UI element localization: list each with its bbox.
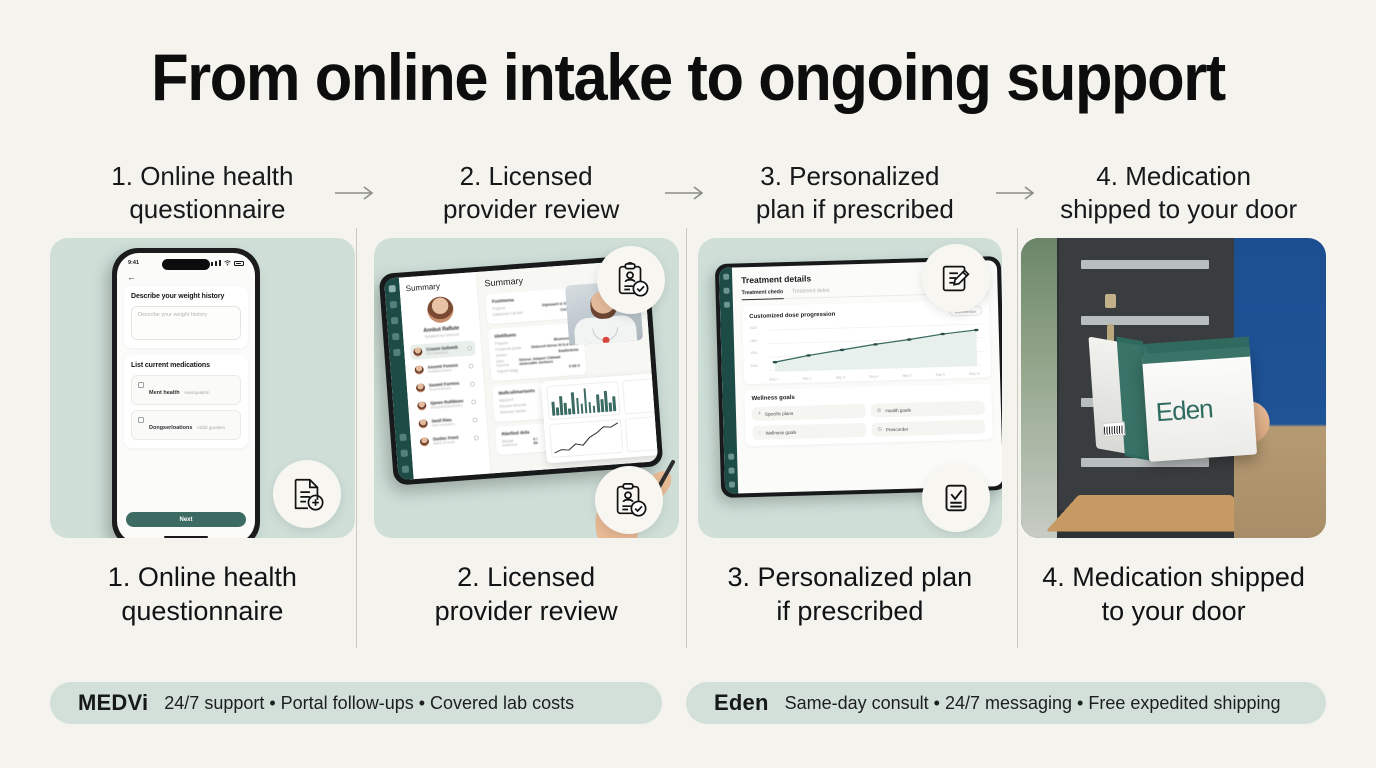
panel-value: il / Illi	[533, 437, 542, 446]
step-caption-line2: provider review	[380, 594, 673, 628]
bar	[556, 408, 559, 416]
avatar	[419, 437, 429, 447]
panel-key: Rirtuoes oistian	[500, 409, 526, 415]
wellness-goals-panel: Wellness goals + Specific plans ◎	[744, 383, 992, 446]
step-caption-line2: to your door	[1027, 594, 1320, 628]
panel-key: Banqa irsilloons	[502, 438, 528, 448]
settings-icon[interactable]	[727, 468, 733, 474]
y-tick: 501k	[750, 364, 766, 368]
tab-treatment-checks[interactable]: Treatment chedo	[741, 289, 783, 300]
summary-panel: Maficalimartants Aqupont Eluosel Ilercol…	[492, 382, 547, 422]
list-item[interactable]: Sunloc FrentAleolr un loorp	[416, 430, 482, 450]
panel-value: Eadlinlimls	[558, 348, 578, 353]
step-heading-line1: 4. Medication	[1033, 160, 1314, 193]
brand-pill-medvi: MEDVi 24/7 support • Portal follow-ups •…	[50, 682, 662, 724]
avatar	[426, 296, 454, 324]
bar	[559, 396, 563, 415]
step-caption-line1: 3. Personalized plan	[704, 560, 997, 594]
step-column-2: 2. Licensed provider review	[374, 160, 679, 660]
calendar-icon[interactable]	[391, 317, 398, 324]
clipboard-person-check-icon-badge	[597, 246, 665, 314]
weight-history-title: Describe your weight history	[131, 293, 241, 300]
panel-value: il till il	[569, 364, 580, 369]
settings-icon[interactable]	[400, 450, 407, 457]
bar	[571, 392, 575, 414]
goal-chip[interactable]: + Specific plans	[751, 404, 865, 421]
avatar	[417, 401, 427, 411]
goal-label: Wellness goals	[765, 429, 796, 435]
dose-progression-chart: 202k 150k 100k 501k	[749, 320, 983, 378]
battery-icon	[234, 261, 244, 266]
line-chart	[549, 419, 623, 458]
y-axis-ticks: 202k 150k 100k 501k	[749, 326, 766, 368]
brand-name: Eden	[714, 690, 769, 716]
goal-label: Health goals	[885, 407, 911, 413]
checkbox-icon[interactable]	[138, 382, 144, 388]
medication-option-row[interactable]: Dongserloations Addd goutiers	[131, 410, 241, 440]
step-caption-1: 1. Online health questionnaire	[50, 560, 355, 628]
medication-label: Dongserloations	[149, 425, 192, 431]
wellness-goals-list: + Specific plans ◎ Health goals	[751, 401, 985, 440]
target-icon: ◌	[758, 430, 761, 436]
page-title: From online intake to ongoing support	[48, 44, 1328, 110]
list-item[interactable]: Crasve Gulsesbline bestetions	[410, 340, 476, 360]
step-heading-line2: shipped to your door	[1033, 193, 1314, 226]
step-heading-line2: plan if prescribed	[710, 193, 991, 226]
goal-chip[interactable]: ◷ Prescorder	[871, 420, 985, 437]
chart-icon[interactable]	[723, 302, 729, 308]
status-dot-icon	[469, 381, 474, 386]
panel-key: Squret lasgy	[497, 368, 518, 374]
step-heading-line1: 2. Licensed	[386, 160, 667, 193]
brand-pill-eden: Eden Same-day consult • 24/7 messaging •…	[686, 682, 1326, 724]
bar	[609, 403, 612, 412]
medications-card: List current medications Ment health Ase…	[124, 355, 248, 448]
step-caption-2: 2. Licensed provider review	[374, 560, 679, 628]
step-heading-line1: 3. Personalized	[710, 160, 991, 193]
panel-heading: Rlerllod dola	[501, 429, 541, 437]
logo-icon	[722, 274, 728, 280]
plus-icon: +	[757, 411, 760, 417]
x-tick: Step 1	[768, 377, 777, 381]
list-item[interactable]: Sjeren Ruthboessrecointellnacolontes	[414, 394, 480, 414]
medication-sublabel: Addd goutiers	[197, 425, 225, 430]
step-heading-2: 2. Licensed provider review	[374, 160, 679, 238]
document-add-icon	[288, 475, 326, 513]
bar	[576, 398, 580, 414]
x-tick: Step 6	[935, 373, 944, 377]
step-heading-line2: questionnaire	[62, 193, 343, 226]
goal-label: Specific plans	[764, 410, 792, 416]
bar	[593, 406, 596, 413]
phone-mockup: 9:41 ← Describe your weight history Desc…	[112, 248, 260, 538]
metric-tile	[622, 378, 658, 414]
patient-list-panel: Summary Annbut Raflute Sciatorit by retu…	[399, 272, 492, 479]
step-caption-4: 4. Medication shipped to your door	[1021, 560, 1326, 628]
shipping-box: Eden	[1089, 333, 1257, 466]
brand-pills: MEDVi 24/7 support • Portal follow-ups •…	[50, 682, 1326, 724]
list-item[interactable]: Senil Rieulelert osreulens	[415, 412, 481, 432]
grid-icon[interactable]	[389, 301, 396, 308]
y-tick: 150k	[749, 338, 765, 342]
chart-title: Customized dose progression	[749, 312, 835, 320]
bell-icon[interactable]	[399, 434, 406, 441]
bar	[551, 402, 554, 416]
x-tick: Step 3	[835, 375, 844, 379]
step-media-card-4: Eden	[1021, 238, 1326, 538]
phone-status-bar: 9:41	[124, 257, 248, 266]
bar	[612, 396, 616, 411]
step-column-1: 1. Online health questionnaire 9:41	[50, 160, 355, 660]
brand-features: 24/7 support • Portal follow-ups • Cover…	[164, 693, 574, 714]
list-item[interactable]: Sasent FurmouSconnertelans	[412, 376, 478, 396]
weight-history-input[interactable]: Describe your weight history	[131, 306, 241, 340]
avatar-icon[interactable]	[401, 465, 408, 472]
step-column-3: 3. Personalized plan if prescribed	[698, 160, 1003, 660]
panel-key: Dien touncal	[496, 359, 513, 368]
step-caption-line1: 4. Medication shipped	[1027, 560, 1320, 594]
panel-key: Fredecal Quote	[495, 346, 521, 352]
chart-icon[interactable]	[393, 349, 400, 356]
delivery-photo: Eden	[1021, 238, 1326, 538]
panel-key: Pogons	[495, 341, 508, 346]
step-caption-line2: questionnaire	[56, 594, 349, 628]
panel-key: Aqupont	[499, 398, 513, 403]
infographic-page: From online intake to ongoing support 1.…	[0, 0, 1376, 768]
step-media-card-2: Summary Annbut Raflute Sciatorit by retu…	[374, 238, 679, 538]
document-pencil-icon-badge	[922, 244, 990, 312]
bar	[588, 402, 591, 414]
bar	[596, 394, 600, 412]
sidelight-window	[1021, 238, 1057, 538]
x-tick: Step 5	[902, 374, 911, 378]
metric-tile	[625, 416, 658, 452]
clipboard-person-check-icon	[610, 481, 648, 519]
panel-heading: Maficalimartants	[498, 388, 538, 396]
list-item[interactable]: Anovnt FonsossonMluernlistos	[411, 358, 477, 378]
wifi-icon	[224, 260, 231, 266]
x-tick: Step 4	[868, 375, 877, 379]
home-indicator	[164, 536, 208, 539]
medication-label: Ment health	[149, 390, 180, 396]
step-caption-line1: 2. Licensed	[380, 560, 673, 594]
bar	[600, 399, 603, 412]
avatar-icon[interactable]	[728, 482, 734, 488]
step-caption-line2: if prescribed	[704, 594, 997, 628]
analytics-overlay-card	[541, 371, 658, 464]
goal-label: Prescorder	[885, 426, 908, 432]
weight-history-card: Describe your weight history Describe yo…	[124, 286, 248, 348]
step-caption-3: 3. Personalized plan if prescribed	[698, 560, 1003, 628]
barcode-icon	[1104, 426, 1125, 435]
bar	[580, 404, 583, 414]
checkbox-icon[interactable]	[138, 417, 144, 423]
x-tick: Step 10	[968, 372, 979, 376]
step-media-card-1: 9:41 ← Describe your weight history Desc…	[50, 238, 355, 538]
y-tick: 100k	[750, 351, 766, 355]
patient-list: Crasve Gulsesbline bestetions Anovnt Fon…	[410, 340, 483, 449]
info-icon: ◎	[876, 407, 881, 413]
y-tick: 202k	[749, 326, 765, 330]
medication-option-row[interactable]: Ment health Asenquation	[131, 375, 241, 405]
x-tick: Step 2	[802, 376, 811, 380]
clipboard-person-check-icon-badge	[595, 466, 663, 534]
brand-features: Same-day consult • 24/7 messaging • Free…	[785, 693, 1281, 714]
document-check-icon	[937, 479, 975, 517]
goal-chip[interactable]: ◌ Wellness goals	[752, 423, 866, 440]
wellness-goals-title: Wellness goals	[751, 390, 984, 403]
goal-chip[interactable]: ◎ Health goals	[870, 401, 984, 418]
step-heading-4: 4. Medication shipped to your door	[1021, 160, 1326, 238]
summary-panel: Rlerllod dola Banqa irsilloonsil / Illi	[495, 423, 549, 455]
bar-chart	[546, 381, 620, 420]
status-dot-icon	[471, 399, 476, 404]
step-heading-line1: 1. Online health	[62, 160, 343, 193]
brand-name: MEDVi	[78, 690, 148, 716]
panel-key: Dattiumal Cat site	[492, 311, 522, 317]
avatar	[413, 347, 423, 357]
bar	[583, 389, 587, 414]
box-brand-label: Eden	[1155, 393, 1214, 428]
document-pencil-icon	[937, 259, 975, 297]
status-time: 9:41	[128, 260, 139, 266]
phone-screen: 9:41 ← Describe your weight history Desc…	[117, 253, 255, 538]
home-icon[interactable]	[722, 288, 728, 294]
clipboard-person-check-icon	[612, 261, 650, 299]
door-lock	[1105, 294, 1116, 308]
clock-icon: ◷	[877, 426, 882, 432]
medication-sublabel: Asenquation	[184, 390, 210, 395]
sidebar-title: Summary	[405, 279, 470, 293]
next-button[interactable]: Next	[126, 512, 246, 527]
document-add-icon-badge	[273, 460, 341, 528]
status-dot-icon	[467, 346, 472, 351]
avatar	[414, 365, 424, 375]
status-dot-icon	[468, 363, 473, 368]
avatar	[418, 419, 428, 429]
document-check-icon-badge	[922, 464, 990, 532]
logo-icon	[388, 285, 395, 292]
panel-key: Eluosel Ilercoldi	[499, 403, 526, 409]
bar	[604, 390, 608, 411]
step-heading-3: 3. Personalized plan if prescribed	[698, 160, 1003, 238]
steps-grid: 1. Online health questionnaire 9:41	[50, 160, 1326, 660]
data-point	[772, 361, 777, 364]
chat-icon[interactable]	[392, 333, 399, 340]
status-dot-icon	[473, 435, 478, 440]
panel-key: Aurtes	[495, 353, 506, 358]
panel-key: Pogons	[492, 306, 505, 311]
phone-notch	[162, 259, 210, 270]
dose-progression-panel: Customized dose progression Meomenton 20…	[741, 299, 990, 384]
step-column-4: 4. Medication shipped to your door	[1021, 160, 1326, 660]
step-caption-line1: 1. Online health	[56, 560, 349, 594]
step-media-card-3: Treatment details Treatment chedo Treatm…	[698, 238, 1003, 538]
bell-icon[interactable]	[727, 454, 733, 460]
bar	[568, 409, 571, 415]
step-heading-line2: provider review	[386, 193, 667, 226]
status-dot-icon	[472, 417, 477, 422]
medications-title: List current medications	[131, 362, 241, 369]
step-heading-1: 1. Online health questionnaire	[50, 160, 355, 238]
bar	[564, 403, 567, 415]
tab-treatment-doses[interactable]: Treatment doloo	[792, 288, 830, 295]
avatar	[415, 383, 425, 393]
